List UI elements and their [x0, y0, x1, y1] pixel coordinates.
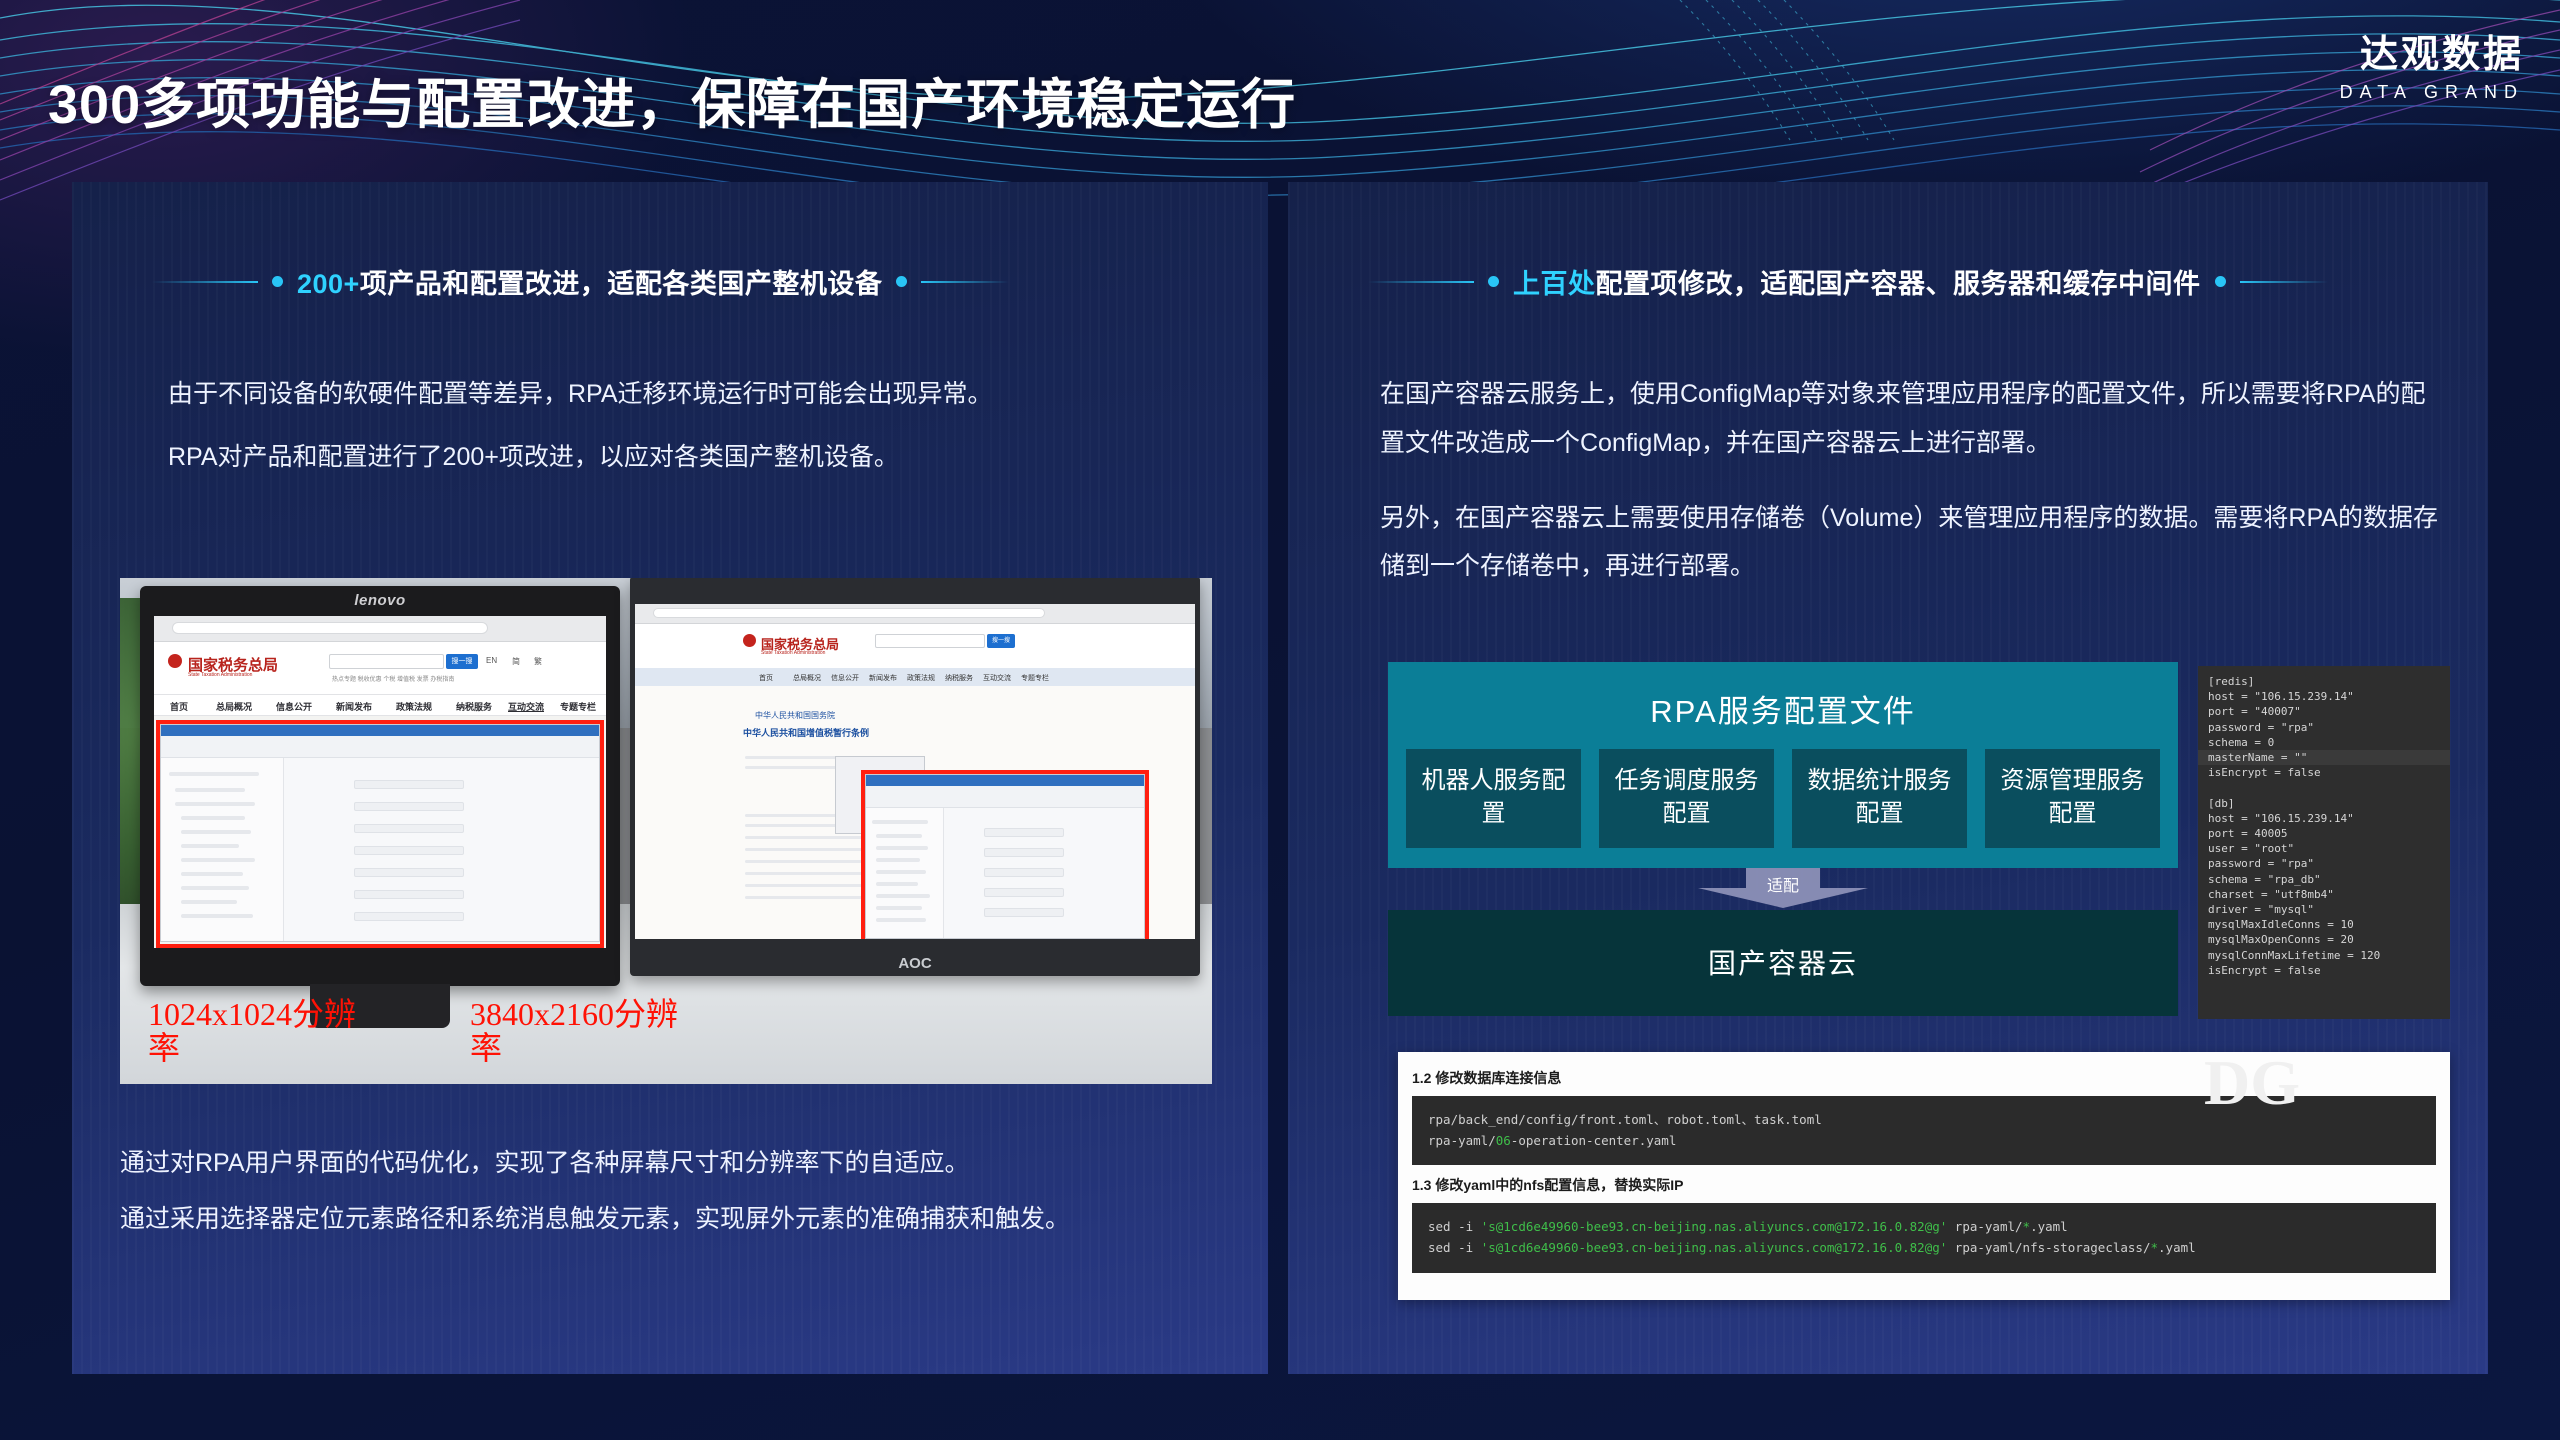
card-section-12-title: 1.2 修改数据库连接信息	[1412, 1068, 2436, 1088]
ini-line-14: charset = "utf8mb4"	[2208, 887, 2440, 902]
left-body-line-1: 由于不同设备的软硬件配置等差异，RPA迁移环境运行时可能会出现异常。	[168, 370, 1188, 419]
heading-tail-line-right	[2240, 281, 2328, 283]
code-13-line-2: sed -i 's@1cd6e49960-bee93.cn-beijing.na…	[1428, 1238, 2420, 1259]
heading-tail-dot	[896, 276, 907, 287]
tax-nav-item-0[interactable]: 首页	[170, 700, 188, 713]
monitor-aoc: 国家税务总局 State Taxation Administration 搜一搜…	[630, 578, 1200, 976]
tax-lang-en[interactable]: EN	[486, 656, 497, 665]
code-13-1-green: 's@1cd6e49960-bee93.cn-beijing.nas.aliyu…	[1481, 1219, 1948, 1234]
diagram-title: RPA服务配置文件	[1406, 686, 2160, 731]
card-code-block-13: sed -i 's@1cd6e49960-bee93.cn-beijing.na…	[1412, 1203, 2436, 1272]
diagram-arrow-area: 适配	[1388, 868, 2178, 910]
tax-nav-right-0[interactable]: 首页	[759, 673, 773, 683]
tax-nav-item-6[interactable]: 互动交流	[508, 700, 544, 713]
tax-site-subtitle-right: State Taxation Administration	[761, 650, 825, 656]
tax-nav-item-1[interactable]: 总局概况	[216, 700, 252, 713]
code-13-2-star: *	[2150, 1240, 2158, 1255]
tax-emblem-icon	[168, 654, 182, 668]
tax-lang-tw[interactable]: 繁	[534, 656, 542, 667]
tax-search-input[interactable]	[329, 654, 444, 669]
annotation-resolution-right: 3840x2160分辨率	[470, 998, 700, 1065]
ini-line-1: host = "106.15.239.14"	[2208, 689, 2440, 704]
tax-nav-right-7[interactable]: 专题专栏	[1021, 673, 1049, 683]
tax-site-header: 国家税务总局 State Taxation Administration 搜一搜…	[154, 642, 606, 694]
rpa-config-diagram: RPA服务配置文件 机器人服务配置 任务调度服务配置 数据统计服务配置 资源管理…	[1388, 662, 2178, 1016]
heading-lead-dot-right	[1488, 276, 1499, 287]
code-13-2-post: rpa-yaml/nfs-storageclass/	[1947, 1240, 2150, 1255]
browser-url-bar	[172, 622, 488, 634]
tax-site-subtitle: State Taxation Administration	[188, 672, 252, 678]
right-heading-rest: 配置项修改，适配国产容器、服务器和缓存中间件	[1596, 269, 2201, 299]
ini-line-9: host = "106.15.239.14"	[2208, 811, 2440, 826]
tax-site-header-right: 国家税务总局 State Taxation Administration 搜一搜	[635, 624, 1195, 668]
diagram-box-resource-mgmt: 资源管理服务配置	[1985, 749, 2160, 848]
tax-nav-item-4[interactable]: 政策法规	[396, 700, 432, 713]
annotation-resolution-left: 1024x1024分辨率	[148, 998, 378, 1065]
ini-line-10: port = 40005	[2208, 826, 2440, 841]
heading-lead-line-right	[1368, 281, 1474, 283]
code-12-post: -operation-center.yaml	[1511, 1133, 1677, 1148]
left-caption: 通过对RPA用户界面的代码优化，实现了各种屏幕尺寸和分辨率下的自适应。 通过采用…	[120, 1140, 1220, 1251]
tax-nav-right-1[interactable]: 总局概况	[793, 673, 821, 683]
aoc-screen: 国家税务总局 State Taxation Administration 搜一搜…	[635, 604, 1195, 939]
diagram-box-robot-service: 机器人服务配置	[1406, 749, 1581, 848]
tax-nav-right-2[interactable]: 信息公开	[831, 673, 859, 683]
tax-nav-item-2[interactable]: 信息公开	[276, 700, 312, 713]
ini-line-2: port = "40007"	[2208, 704, 2440, 719]
diagram-box-row: 机器人服务配置 任务调度服务配置 数据统计服务配置 资源管理服务配置	[1406, 749, 2160, 848]
doc-card: DG 1.2 修改数据库连接信息 rpa/back_end/config/fro…	[1398, 1052, 2450, 1300]
tax-nav-item-3[interactable]: 新闻发布	[336, 700, 372, 713]
ini-line-4: schema = 0	[2208, 735, 2440, 750]
ini-line-13: schema = "rpa_db"	[2208, 872, 2440, 887]
browser-url-bar-right[interactable]	[653, 608, 1045, 618]
tax-nav-item-5[interactable]: 纳税服务	[456, 700, 492, 713]
code-13-2-green: 's@1cd6e49960-bee93.cn-beijing.nas.aliyu…	[1481, 1240, 1948, 1255]
code-13-line-1: sed -i 's@1cd6e49960-bee93.cn-beijing.na…	[1428, 1217, 2420, 1238]
code-13-2-end: .yaml	[2158, 1240, 2196, 1255]
ini-line-8: [db]	[2208, 796, 2440, 811]
tax-nav-right-3[interactable]: 新闻发布	[869, 673, 897, 683]
left-body-copy: 由于不同设备的软硬件配置等差异，RPA迁移环境运行时可能会出现异常。 RPA对产…	[168, 370, 1188, 496]
desk-photo: lenovo 国家税务总局 State Taxation Administrat…	[120, 578, 1212, 1084]
ini-line-5-highlighted: masterName = ""	[2198, 750, 2450, 765]
card-section-13-title: 1.3 修改yaml中的nfs配置信息，替换实际IP	[1412, 1175, 2436, 1195]
right-section-heading: 上百处配置项修改，适配国产容器、服务器和缓存中间件	[1368, 262, 2328, 301]
code-12-green: 06	[1496, 1133, 1511, 1148]
left-heading-rest: 项产品和配置改进，适配各类国产整机设备	[360, 269, 883, 299]
aoc-brand-label: AOC	[630, 955, 1200, 972]
tax-nav-right-6[interactable]: 互动交流	[983, 673, 1011, 683]
right-body-para-2: 另外，在国产容器云上需要使用存储卷（Volume）来管理应用程序的数据。需要将R…	[1380, 494, 2440, 592]
tax-site-nav-right: 首页 总局概况 信息公开 新闻发布 政策法规 纳税服务 互动交流 专题专栏	[635, 668, 1195, 686]
tax-search-button-right[interactable]: 搜一搜	[987, 634, 1015, 648]
left-section-heading: 200+项产品和配置改进，适配各类国产整机设备	[152, 262, 1009, 301]
code-13-1-pre: sed -i	[1428, 1219, 1481, 1234]
right-body-para-1: 在国产容器云服务上，使用ConfigMap等对象来管理应用程序的配置文件，所以需…	[1380, 370, 2440, 468]
left-body-line-2: RPA对产品和配置进行了200+项改进，以应对各类国产整机设备。	[168, 433, 1188, 482]
code-13-1-star: *	[2023, 1219, 2031, 1234]
tax-emblem-icon-right	[743, 634, 756, 647]
ini-line-11: user = "root"	[2208, 841, 2440, 856]
ini-line-17: mysqlMaxOpenConns = 20	[2208, 932, 2440, 947]
brand-logo: 达观数据 DATA GRAND	[2340, 36, 2524, 103]
slide-root: 300多项功能与配置改进，保障在国产环境稳定运行 达观数据 DATA GRAND…	[0, 0, 2560, 1440]
left-caption-line-1: 通过对RPA用户界面的代码优化，实现了各种屏幕尺寸和分辨率下的自适应。	[120, 1140, 1220, 1188]
page-title: 300多项功能与配置改进，保障在国产环境稳定运行	[48, 60, 1296, 139]
tax-lang-cn[interactable]: 简	[512, 656, 520, 667]
code-13-1-end: .yaml	[2030, 1219, 2068, 1234]
tax-search-input-right[interactable]	[875, 634, 985, 648]
tax-nav-right-4[interactable]: 政策法规	[907, 673, 935, 683]
heading-tail-line	[921, 281, 1009, 283]
ini-line-19: isEncrypt = false	[2208, 963, 2440, 978]
ini-line-3: password = "rpa"	[2208, 720, 2440, 735]
code-13-2-pre: sed -i	[1428, 1240, 1481, 1255]
heading-tail-dot-right	[2215, 276, 2226, 287]
diagram-box-task-scheduler: 任务调度服务配置	[1599, 749, 1774, 848]
ini-line-6: isEncrypt = false	[2208, 765, 2440, 780]
right-heading-highlight: 上百处	[1513, 269, 1596, 299]
red-highlight-box-right	[861, 770, 1149, 939]
tax-nav-item-7[interactable]: 专题专栏	[560, 700, 596, 713]
left-caption-line-2: 通过采用选择器定位元素路径和系统消息触发元素，实现屏外元素的准确捕获和触发。	[120, 1196, 1220, 1244]
right-section-title: 上百处配置项修改，适配国产容器、服务器和缓存中间件	[1513, 262, 2201, 301]
ini-line-16: mysqlMaxIdleConns = 10	[2208, 917, 2440, 932]
ini-line-18: mysqlConnMaxLifetime = 120	[2208, 948, 2440, 963]
tax-hot-links: 热点专题 税收优惠 个税 增值税 发票 办税指南	[332, 674, 454, 683]
ini-line-15: driver = "mysql"	[2208, 902, 2440, 917]
heading-lead-line	[152, 281, 258, 283]
code-12-line-2: rpa-yaml/06-operation-center.yaml	[1428, 1131, 2420, 1152]
brand-logo-en: DATA GRAND	[2340, 82, 2524, 103]
diagram-arrow-label: 适配	[1767, 872, 1799, 896]
doc-title-2: 中华人民共和国增值税暂行条例	[743, 726, 869, 739]
diagram-bottom-box: 国产容器云	[1388, 910, 2178, 1016]
tax-nav-right-5[interactable]: 纳税服务	[945, 673, 973, 683]
ini-config-block: [redis] host = "106.15.239.14" port = "4…	[2198, 666, 2450, 1019]
left-section-title: 200+项产品和配置改进，适配各类国产整机设备	[297, 262, 882, 301]
code-12-pre: rpa-yaml/	[1428, 1133, 1496, 1148]
card-code-block-12: rpa/back_end/config/front.toml、robot.tom…	[1412, 1096, 2436, 1165]
ini-line-12: password = "rpa"	[2208, 856, 2440, 871]
doc-title-1: 中华人民共和国国务院	[755, 710, 1195, 721]
brand-logo-cn: 达观数据	[2340, 36, 2524, 76]
diagram-box-data-stats: 数据统计服务配置	[1792, 749, 1967, 848]
red-highlight-box-left	[156, 720, 604, 948]
ini-line-7-blank	[2208, 780, 2440, 795]
tax-site-nav: 首页 总局概况 信息公开 新闻发布 政策法规 纳税服务 互动交流 专题专栏	[154, 694, 606, 716]
tax-search-button[interactable]: 搜一搜	[446, 654, 478, 669]
diagram-outer-box: RPA服务配置文件 机器人服务配置 任务调度服务配置 数据统计服务配置 资源管理…	[1388, 662, 2178, 868]
monitor-lenovo: lenovo 国家税务总局 State Taxation Administrat…	[140, 586, 620, 986]
code-13-1-post: rpa-yaml/	[1947, 1219, 2022, 1234]
ini-line-0: [redis]	[2208, 674, 2440, 689]
left-heading-highlight: 200+	[297, 269, 360, 299]
lenovo-screen: 国家税务总局 State Taxation Administration 搜一搜…	[154, 616, 606, 948]
browser-chrome-bar	[154, 616, 606, 642]
lenovo-brand-label: lenovo	[140, 592, 620, 609]
right-body-copy: 在国产容器云服务上，使用ConfigMap等对象来管理应用程序的配置文件，所以需…	[1380, 370, 2440, 605]
code-12-line-1: rpa/back_end/config/front.toml、robot.tom…	[1428, 1110, 2420, 1131]
browser-chrome-bar-right	[635, 604, 1195, 624]
heading-lead-dot	[272, 276, 283, 287]
